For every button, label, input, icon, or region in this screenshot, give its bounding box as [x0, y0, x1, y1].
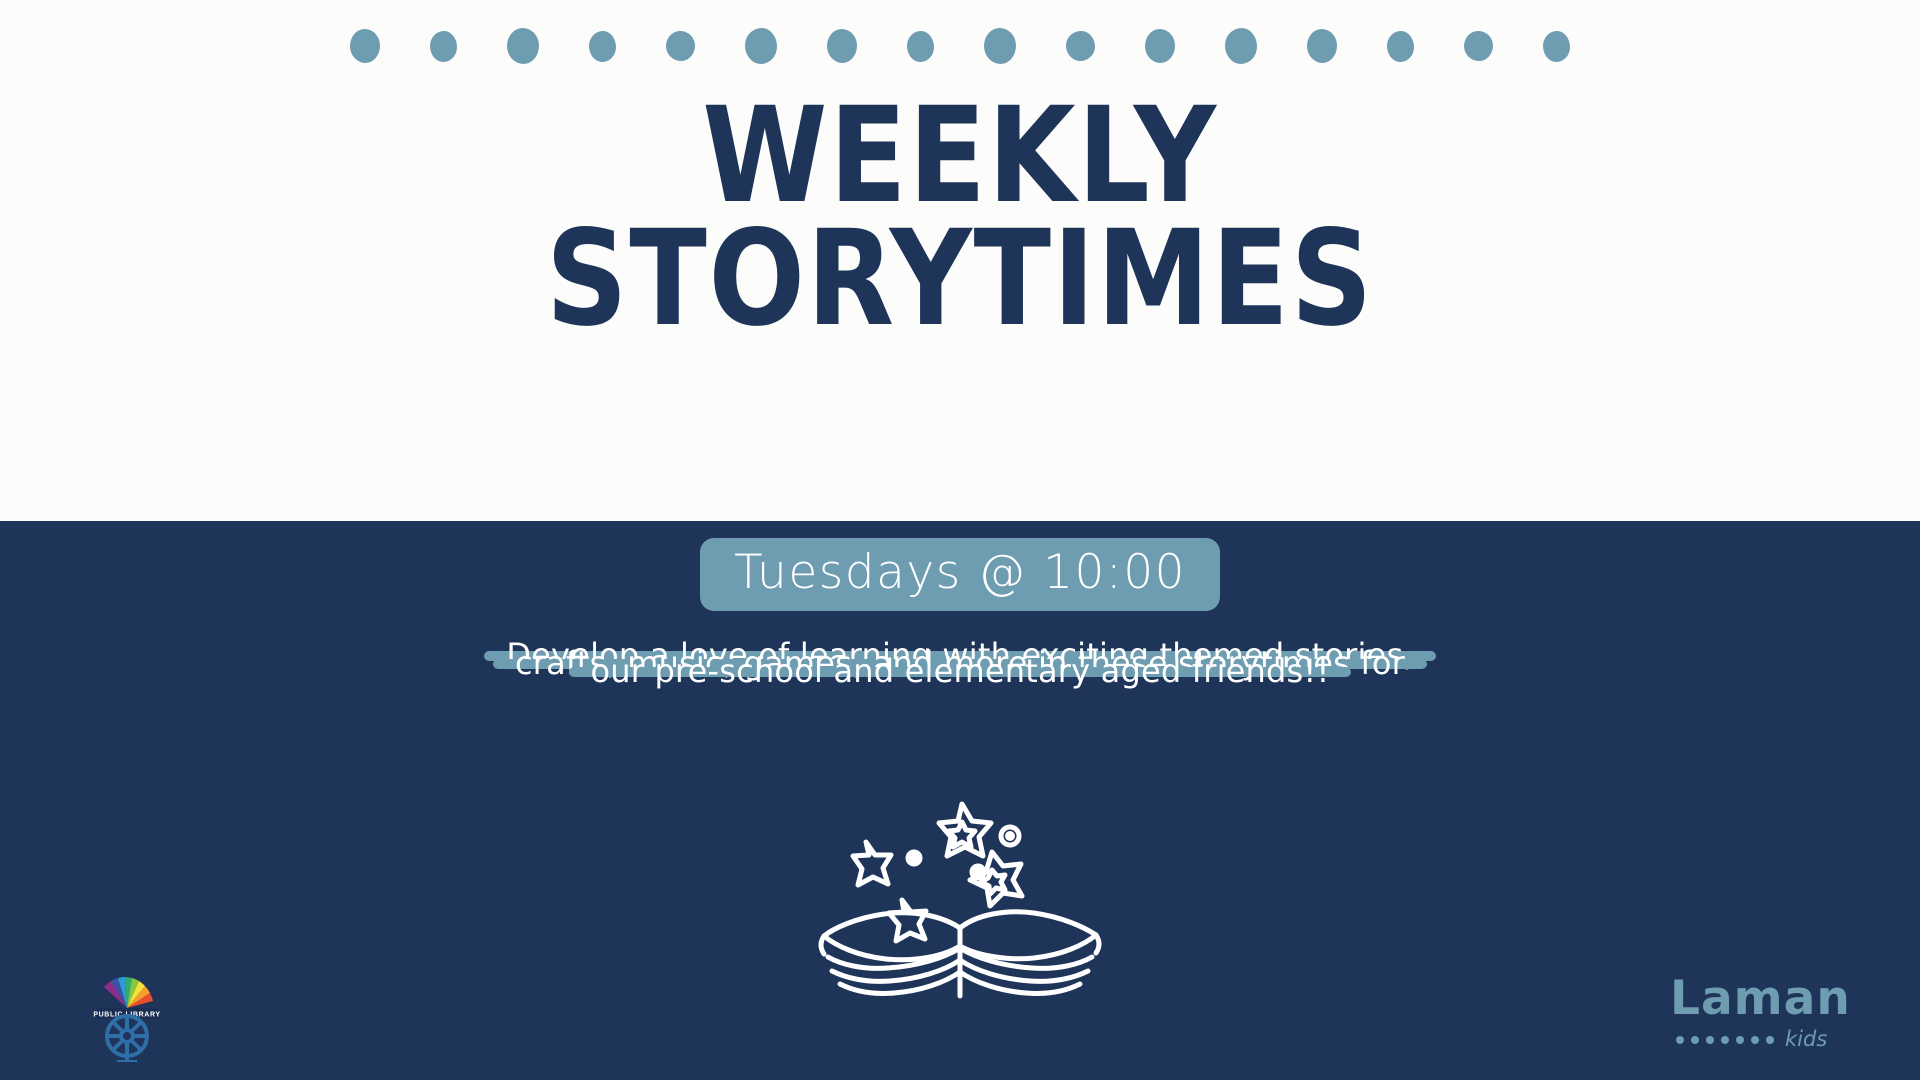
laman-kids-logo: Laman kids — [1670, 975, 1850, 1065]
laman-wordmark: Laman — [1670, 975, 1850, 1022]
laman-kids-label: kids — [1785, 1029, 1827, 1050]
page-title: WEEKLY STORYTIMES — [0, 92, 1920, 345]
decor-dot — [984, 28, 1016, 64]
decor-dot — [1225, 28, 1257, 64]
poster-canvas: WEEKLY STORYTIMES Tuesdays @ 10:00 Devel… — [0, 0, 1920, 1080]
laman-dot — [1691, 1036, 1699, 1044]
laman-dot — [1706, 1036, 1714, 1044]
laman-dot — [1721, 1036, 1729, 1044]
description-line: our pre-school and elementary aged frien… — [569, 667, 1352, 677]
decor-dot — [1145, 29, 1175, 63]
top-dot-border — [0, 18, 1920, 74]
description-row: our pre-school and elementary aged frien… — [0, 667, 1920, 677]
decor-dot — [666, 31, 695, 61]
laman-dot — [1766, 1036, 1774, 1044]
open-book-with-stars-icon — [810, 796, 1110, 1006]
decor-dot — [589, 31, 616, 62]
laman-dot — [1736, 1036, 1744, 1044]
decor-dot — [1066, 31, 1095, 61]
laman-underline-dots: kids — [1670, 1029, 1850, 1050]
title-line-storytimes: STORYTIMES — [134, 215, 1785, 344]
decor-dot — [350, 29, 380, 63]
decor-dot — [507, 28, 539, 64]
laman-dot — [1676, 1036, 1684, 1044]
description-block: Develop a love of learning with exciting… — [0, 651, 1920, 675]
decor-dot — [745, 28, 777, 64]
time-badge: Tuesdays @ 10:00 — [700, 538, 1220, 611]
public-library-logo: PUBLIC LIBRARY — [84, 970, 170, 1062]
decor-dot — [827, 29, 857, 63]
decor-dot — [1464, 31, 1493, 61]
decor-dot — [430, 31, 457, 62]
laman-dot — [1751, 1036, 1759, 1044]
info-panel: Tuesdays @ 10:00 Develop a love of learn… — [0, 521, 1920, 1080]
decor-dot — [1307, 29, 1337, 63]
decor-dot — [907, 31, 934, 62]
decor-dot — [1543, 31, 1570, 62]
decor-dot — [1387, 31, 1414, 62]
